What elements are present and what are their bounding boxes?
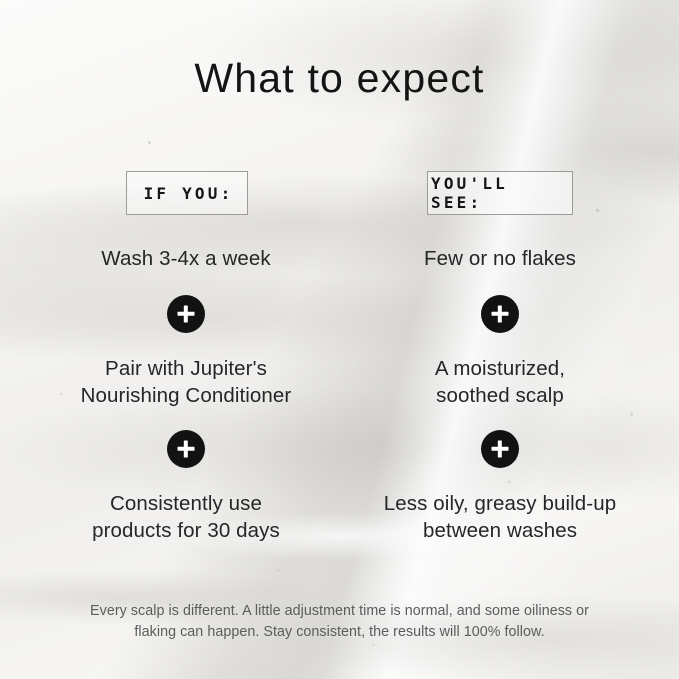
content-root: What to expect IF YOU: YOU'LL SEE: Wash … <box>0 0 679 679</box>
column-header-youll-see: YOU'LL SEE: <box>427 171 573 215</box>
column-header-if-you-label: IF YOU: <box>141 184 234 203</box>
list-item-line: Less oily, greasy build-up <box>355 490 645 517</box>
spacer <box>41 468 331 490</box>
column-header-if-you: IF YOU: <box>126 171 248 215</box>
list-item: Pair with Jupiter's Nourishing Condition… <box>41 355 331 409</box>
connector-1 <box>355 295 645 333</box>
list-item-line: A moisturized, <box>355 355 645 382</box>
connector-2 <box>355 430 645 468</box>
plus-icon <box>167 430 205 468</box>
footer-disclaimer: Every scalp is different. A little adjus… <box>0 601 679 643</box>
list-item: Wash 3-4x a week <box>41 245 331 272</box>
list-item: Less oily, greasy build-up between washe… <box>355 490 645 544</box>
spacer <box>355 333 645 355</box>
list-item-line: soothed scalp <box>355 382 645 409</box>
spacer <box>41 409 331 430</box>
list-item-line: between washes <box>355 517 645 544</box>
spacer <box>355 468 645 490</box>
list-item-line: Few or no flakes <box>355 245 645 272</box>
list-item: Few or no flakes <box>355 245 645 272</box>
plus-icon <box>481 430 519 468</box>
list-item-line: Pair with Jupiter's <box>41 355 331 382</box>
plus-icon <box>481 295 519 333</box>
list-item-line: products for 30 days <box>41 517 331 544</box>
list-item-line: Nourishing Conditioner <box>41 382 331 409</box>
list-item: A moisturized, soothed scalp <box>355 355 645 409</box>
spacer <box>355 409 645 430</box>
column-youll-see: Few or no flakes A moisturized, soothed … <box>355 245 645 544</box>
spacer <box>355 272 645 295</box>
plus-icon <box>167 295 205 333</box>
list-item-line: Wash 3-4x a week <box>41 245 331 272</box>
infographic-canvas: What to expect IF YOU: YOU'LL SEE: Wash … <box>0 0 679 679</box>
list-item: Consistently use products for 30 days <box>41 490 331 544</box>
footer-line: Every scalp is different. A little adjus… <box>0 601 679 622</box>
page-title: What to expect <box>0 55 679 102</box>
column-header-youll-see-label: YOU'LL SEE: <box>428 174 572 212</box>
spacer <box>41 272 331 295</box>
column-if-you: Wash 3-4x a week Pair with Jupiter's Nou… <box>41 245 331 544</box>
connector-1 <box>41 295 331 333</box>
spacer <box>41 333 331 355</box>
list-item-line: Consistently use <box>41 490 331 517</box>
connector-2 <box>41 430 331 468</box>
footer-line: flaking can happen. Stay consistent, the… <box>0 622 679 643</box>
